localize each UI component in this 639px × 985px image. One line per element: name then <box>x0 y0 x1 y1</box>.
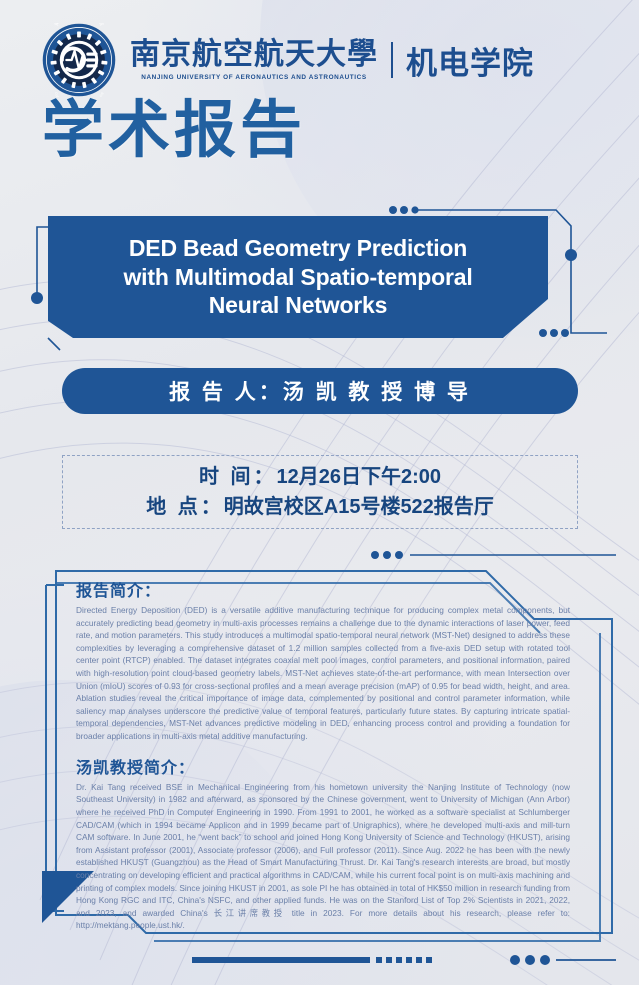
poster-heading: 学术报告 <box>42 98 306 163</box>
brand-divider <box>391 42 393 78</box>
bio-text: Dr. Kai Tang received BSE in Mechanical … <box>76 781 570 932</box>
title-section: DED Bead Geometry Prediction with Multim… <box>0 205 639 355</box>
brand-lockup: 南京航空航天大學 NANJING UNIVERSITY OF AERONAUTI… <box>130 38 534 83</box>
title-line-3: Neural Networks <box>209 292 388 318</box>
event-place-row: 地 点：明故宫校区A15号楼522报告厅 <box>146 492 494 522</box>
lecture-poster: 南京航空航天大学机电学院 College of Mechanical & Ele… <box>0 0 639 985</box>
poster-header: 南京航空航天大学机电学院 College of Mechanical & Ele… <box>0 22 639 98</box>
event-details-box: 时 间：12月26日下午2:00 地 点：明故宫校区A15号楼522报告厅 <box>62 455 578 529</box>
school-name-cn: 机电学院 <box>406 38 534 83</box>
title-line-2: with Multimodal Spatio-temporal <box>123 264 472 290</box>
university-name-en: NANJING UNIVERSITY OF AERONAUTICS AND AS… <box>141 74 367 81</box>
event-time-label: 时 间： <box>199 466 277 488</box>
abstract-heading: 报告简介： <box>76 577 570 601</box>
university-name-group: 南京航空航天大學 NANJING UNIVERSITY OF AERONAUTI… <box>130 40 378 81</box>
event-time-value: 12月26日下午2:00 <box>277 466 442 488</box>
event-time-row: 时 间：12月26日下午2:00 <box>199 462 441 492</box>
content-body: 报告简介： Directed Energy Deposition (DED) i… <box>76 577 570 932</box>
bottom-decoration-bar <box>0 953 639 967</box>
event-place-value: 明故宫校区A15号楼522报告厅 <box>224 496 494 518</box>
title-line-1: DED Bead Geometry Prediction <box>129 235 467 261</box>
lecture-title-block: DED Bead Geometry Prediction with Multim… <box>48 216 548 338</box>
content-frame: 报告简介： Directed Energy Deposition (DED) i… <box>34 563 614 945</box>
lecture-title: DED Bead Geometry Prediction with Multim… <box>123 234 472 321</box>
event-place-label: 地 点： <box>146 496 224 518</box>
abstract-text: Directed Energy Deposition (DED) is a ve… <box>76 604 570 743</box>
speaker-banner: 报 告 人：汤 凯 教 授 博 导 <box>62 368 578 414</box>
bio-heading: 汤凯教授简介： <box>76 754 570 778</box>
speaker-name: 报 告 人：汤 凯 教 授 博 导 <box>169 376 471 406</box>
university-name-cn: 南京航空航天大學 <box>130 40 378 70</box>
nuaa-cmee-emblem-icon: 南京航空航天大学机电学院 College of Mechanical & Ele… <box>42 23 116 97</box>
